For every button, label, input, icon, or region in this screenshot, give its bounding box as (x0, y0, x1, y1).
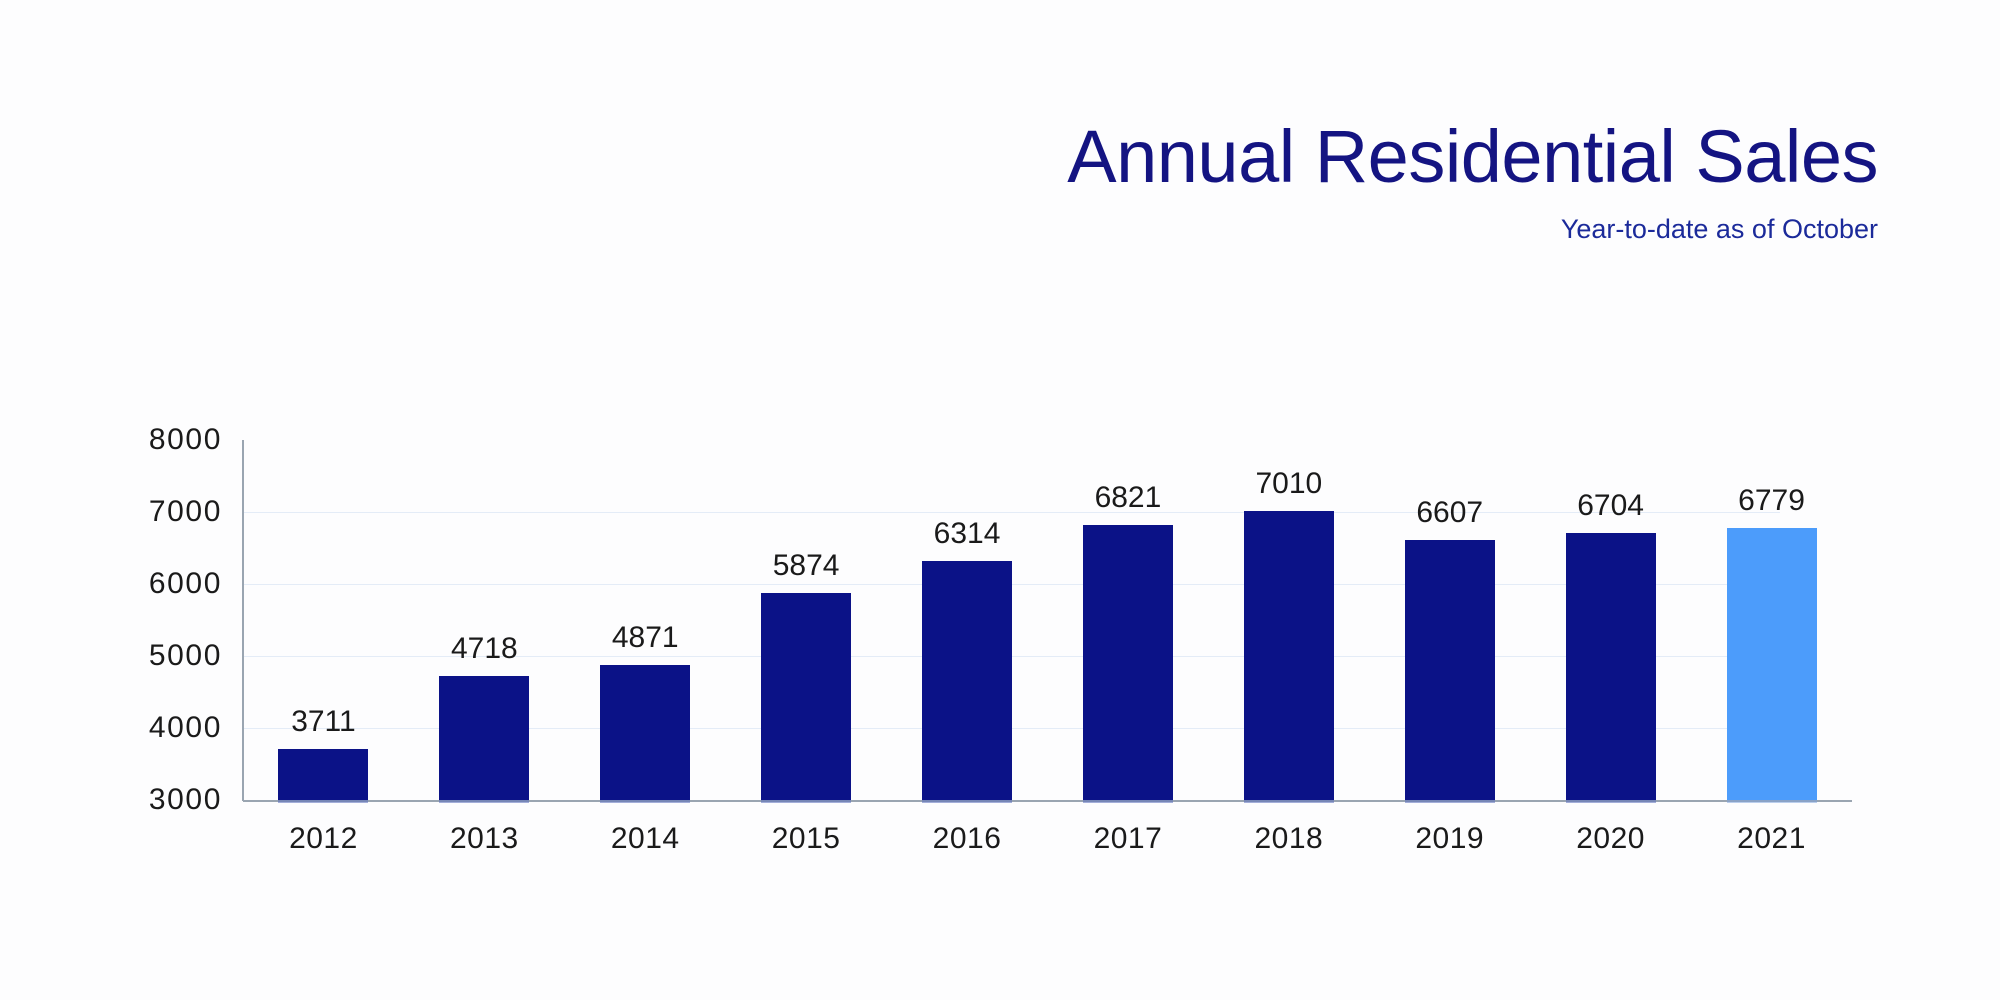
x-axis-label-2014: 2014 (565, 822, 726, 856)
bar-value-label: 3711 (243, 705, 404, 739)
y-axis-tick-label: 7000 (0, 495, 222, 529)
y-axis-tick-label: 5000 (0, 639, 222, 673)
bar-value-label: 6314 (887, 517, 1048, 551)
bar-value-label: 6704 (1530, 489, 1691, 523)
bar-value-label: 6779 (1691, 484, 1852, 518)
x-axis-label-2013: 2013 (404, 822, 565, 856)
bar-slot (1369, 440, 1530, 800)
x-axis-label-2019: 2019 (1369, 822, 1530, 856)
bar-slot (887, 440, 1048, 800)
bar-value-label: 4871 (565, 621, 726, 655)
y-axis-tick-label: 8000 (0, 423, 222, 457)
bar-2018[interactable] (1244, 511, 1334, 800)
bar-2012[interactable] (278, 749, 368, 800)
x-axis-label-2021: 2021 (1691, 822, 1852, 856)
bar-2020[interactable] (1566, 533, 1656, 800)
x-axis-label-2015: 2015 (726, 822, 887, 856)
bar-value-label: 7010 (1208, 467, 1369, 501)
y-axis-tick-label: 4000 (0, 711, 222, 745)
bar-slot (726, 440, 887, 800)
x-axis-label-2012: 2012 (243, 822, 404, 856)
bar-2021[interactable] (1727, 528, 1817, 800)
x-axis-label-2020: 2020 (1530, 822, 1691, 856)
x-axis-line (243, 800, 1852, 802)
bar-value-label: 6607 (1369, 496, 1530, 530)
bar-2016[interactable] (922, 561, 1012, 800)
x-axis-label-2018: 2018 (1208, 822, 1369, 856)
bar-slot (243, 440, 404, 800)
bar-2017[interactable] (1083, 525, 1173, 800)
x-axis-label-2016: 2016 (887, 822, 1048, 856)
bar-2014[interactable] (600, 665, 690, 800)
bar-value-label: 4718 (404, 632, 565, 666)
x-axis-label-2017: 2017 (1048, 822, 1209, 856)
bar-slot (404, 440, 565, 800)
bar-2019[interactable] (1405, 540, 1495, 800)
bar-slot (565, 440, 726, 800)
bar-2013[interactable] (439, 676, 529, 800)
bar-chart: 800070006000500040003000 371147184871587… (0, 0, 2000, 1000)
bar-2015[interactable] (761, 593, 851, 800)
bar-value-label: 5874 (726, 549, 887, 583)
slide-canvas: Annual Residential Sales Year-to-date as… (0, 0, 2000, 1000)
y-axis-tick-label: 3000 (0, 783, 222, 817)
y-axis-tick-label: 6000 (0, 567, 222, 601)
bar-value-label: 6821 (1048, 481, 1209, 515)
